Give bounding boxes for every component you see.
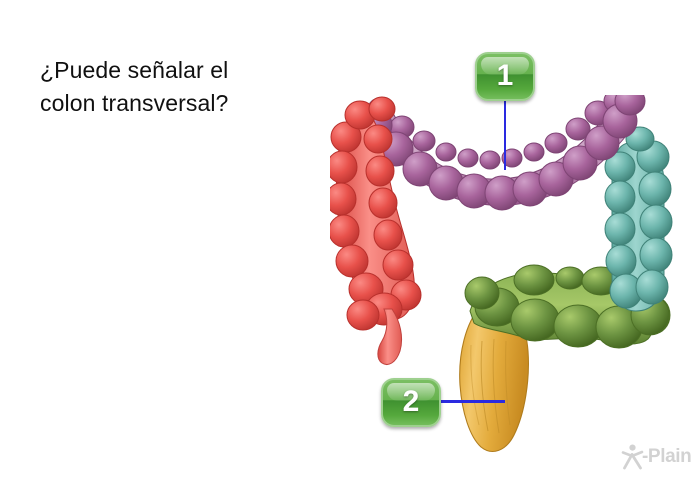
callout-badge-2[interactable]: 2 (381, 378, 441, 427)
question-text: ¿Puede señalar el colon transversal? (40, 54, 340, 120)
callout-badge-2-label: 2 (383, 380, 439, 425)
callout-badge-1[interactable]: 1 (475, 52, 535, 101)
logo-text: -Plain (642, 446, 691, 468)
x-plain-logo: -Plain (621, 444, 693, 472)
leader-line-1 (504, 100, 506, 170)
leader-line-2 (441, 400, 505, 403)
question-line-2: colon transversal? (40, 87, 340, 120)
slide-canvas: ¿Puede señalar el colon transversal? (0, 0, 700, 480)
transverse-colon-segment (360, 95, 645, 210)
callout-badge-1-label: 1 (477, 54, 533, 99)
question-line-1: ¿Puede señalar el (40, 54, 340, 87)
